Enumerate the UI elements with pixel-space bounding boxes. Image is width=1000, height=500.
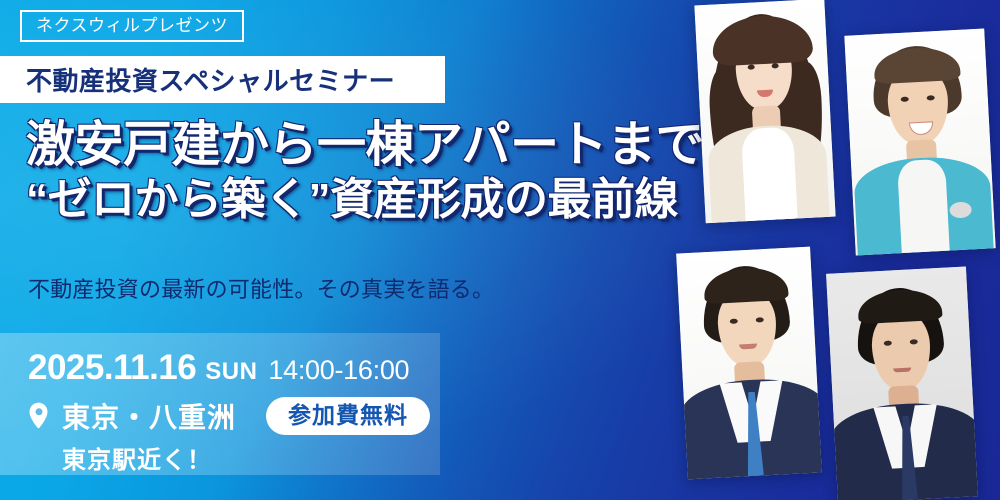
speaker-2-image [844, 28, 995, 255]
headline-line-2: “ゼロから築く”資産形成の最前線 [26, 173, 686, 227]
location-pin-icon [28, 402, 50, 430]
event-venue: 東京・八重洲 [62, 396, 236, 436]
event-time: 14:00-16:00 [268, 355, 409, 386]
speaker-3-image [676, 247, 822, 480]
seminar-title-bar: 不動産投資スペシャルセミナー [0, 56, 445, 103]
free-admission-badge: 参加費無料 [266, 397, 430, 435]
event-venue-row: 東京・八重洲 参加費無料 [28, 396, 430, 436]
speaker-1-image [694, 0, 835, 223]
seminar-title-text: 不動産投資スペシャルセミナー [26, 61, 395, 98]
headline-line-1: 激安戸建から一棟アパートまで [26, 118, 686, 173]
speaker-photo-1 [694, 0, 835, 223]
speaker-4-image [826, 266, 978, 500]
headline: 激安戸建から一棟アパートまで “ゼロから築く”資産形成の最前線 [26, 118, 686, 227]
venue-note: 東京駅近く！ [62, 440, 212, 475]
presents-badge: ネクスウィルプレゼンツ [20, 10, 244, 42]
event-date: 2025.11.16 [28, 348, 196, 388]
speaker-photo-4 [826, 266, 978, 500]
speaker-photo-2 [844, 28, 995, 255]
subtitle: 不動産投資の最新の可能性。その真実を語る。 [28, 272, 494, 304]
speaker-photo-3 [676, 247, 822, 480]
event-weekday: SUN [205, 358, 257, 386]
seminar-banner: ネクスウィルプレゼンツ 不動産投資スペシャルセミナー 激安戸建から一棟アパートま… [0, 0, 1000, 500]
event-date-row: 2025.11.16 SUN 14:00-16:00 [28, 348, 409, 388]
